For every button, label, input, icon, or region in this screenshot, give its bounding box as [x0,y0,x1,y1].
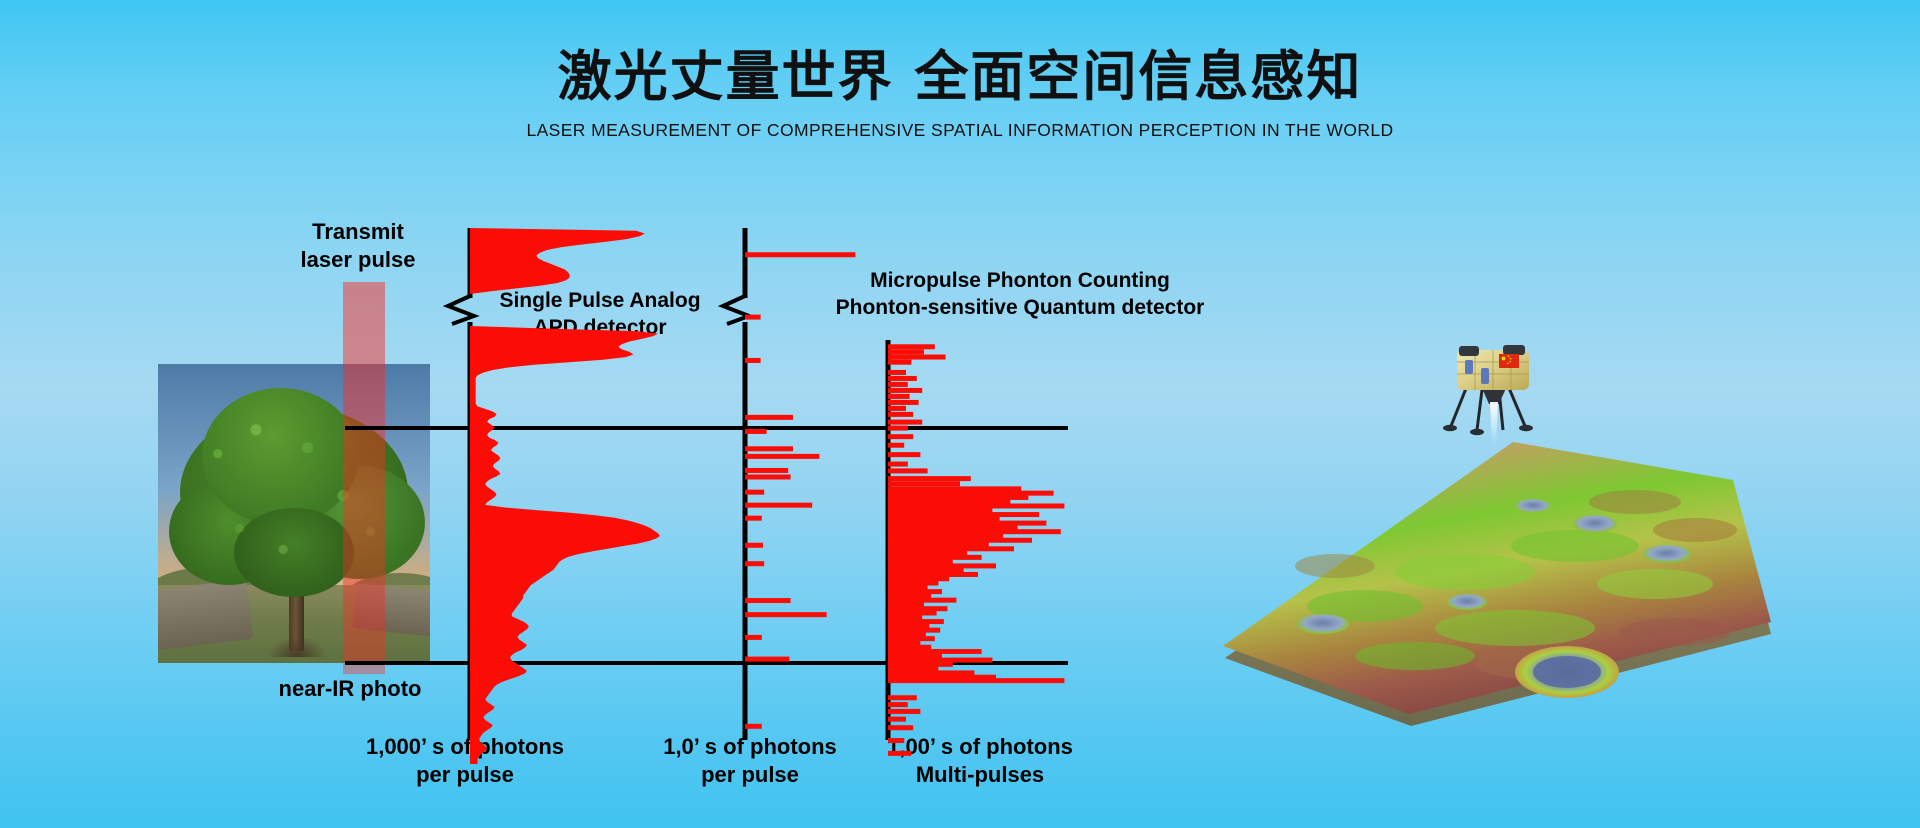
engine-plume [1490,402,1498,444]
photon-bar [745,490,764,495]
photon-bar [888,670,974,675]
photon-bar [888,508,992,513]
photon-bar [745,454,819,459]
photon-bar [888,640,920,645]
photon-bar [888,495,1028,500]
photon-bar [888,678,1064,683]
photon-bar [888,725,913,730]
photon-bar [745,657,789,662]
photon-bar [888,585,928,590]
photon-bar [745,358,761,363]
photon-bar [888,628,940,633]
photon-bar [888,491,1054,496]
photon-bar [888,636,935,641]
photon-bar [888,476,971,481]
photon-bar [888,376,917,381]
photon-bar [745,429,767,434]
photon-bar [888,468,928,473]
photon-bar [888,452,920,457]
terrain-crater-floor [1533,656,1601,688]
photon-bar [888,420,922,425]
photon-bar [888,529,1061,534]
micropulse-detector-label: Micropulse Phonton Counting Phonton-sens… [810,268,1230,322]
photon-bar [888,632,926,637]
lander-sensor [1465,360,1473,374]
photon-bar [888,394,910,399]
photon-bar [888,563,996,568]
photon-bar [745,415,793,420]
photon-bar [888,653,942,658]
photon-bar [745,468,788,473]
photon-bar [888,355,946,360]
page-title: 激光丈量世界 全面空间信息感知 [0,46,1920,108]
transmit-pulse-waveform [470,228,645,294]
photon-bar [888,516,1000,521]
photon-bar [888,370,906,375]
photon-bar [888,717,906,722]
terrain-crater [1447,594,1487,610]
photon-bar [888,581,938,586]
near-ir-photo-image [158,364,430,663]
photon-bar [888,695,917,700]
photon-bar [888,462,908,467]
photon-bar [888,658,992,663]
photon-bar [888,589,942,594]
terrain-crater [1643,545,1691,563]
photon-bar [888,542,989,547]
terrain-crater [1573,515,1617,533]
caption-mid-photons: 1,0’ s of photons per pulse [625,733,875,789]
photon-bar [888,546,1014,551]
photon-bar [745,516,762,521]
transmit-pulse-label: Transmit laser pulse [258,218,458,274]
photon-bar [745,503,812,508]
photon-count-bars [745,252,855,729]
photon-bar [888,434,913,439]
single-pulse-detector-label: Single Pulse Analog APD detector [455,288,745,342]
photon-bar [888,512,1039,517]
photon-bar [888,610,937,615]
caption-left-photons: 1,000’ s of photons per pulse [340,733,590,789]
photon-bar [888,521,1046,526]
photon-bar [888,606,947,611]
photon-count-bars [888,344,1064,756]
photon-bar [745,598,791,603]
photon-bar [888,662,953,667]
photon-bar [888,602,924,607]
photon-bar [888,486,1021,491]
photon-bar [888,675,996,680]
photon-bar [888,382,908,387]
photon-bar [888,623,929,628]
photon-bar [888,555,982,560]
analog-return-waveform [470,326,660,764]
laser-beam-overlay [343,282,385,674]
header: 激光丈量世界 全面空间信息感知 LASER MEASUREMENT OF COM… [0,46,1920,141]
photon-bar [888,649,982,654]
photon-bar [888,533,1003,538]
photon-bar [888,598,956,603]
photon-bar [888,572,978,577]
photon-bar [888,702,908,707]
photon-bar [888,551,967,556]
terrain-crater [1297,614,1349,634]
lander-foot [1443,425,1457,431]
photon-bar [888,400,919,405]
photon-bar [888,499,1010,504]
photon-bar [888,481,960,486]
photon-bar [888,349,924,354]
photon-bar [745,561,764,566]
photon-bar [888,503,1064,508]
photon-bar [888,709,920,714]
lander-foot [1519,425,1533,431]
photon-bar [888,576,949,581]
infographic-canvas: 激光丈量世界 全面空间信息感知 LASER MEASUREMENT OF COM… [0,0,1920,828]
photon-bar [888,615,922,620]
lander-instrument [1459,346,1479,356]
photon-bar [888,360,911,365]
photo-tree-base [267,636,327,657]
photon-bar [888,443,904,448]
photon-bar [888,406,906,411]
photon-bar [888,412,913,417]
page-subtitle: LASER MEASUREMENT OF COMPREHENSIVE SPATI… [0,120,1920,141]
photon-bar [745,724,762,729]
photon-bar [888,426,908,431]
terrain-crater [1515,499,1551,513]
photon-bar [888,593,931,598]
caption-right-photons: 1,00’ s of photons Multi-pulses [855,733,1105,789]
photon-bar [745,612,827,617]
photon-bar [888,525,1018,530]
near-ir-photo-label: near-IR photo [230,675,470,703]
lander-sensor [1481,368,1489,384]
photon-bar [888,344,935,349]
lander-foot [1470,429,1484,435]
photon-bar [745,315,761,320]
lander-instrument [1503,345,1525,355]
lunar-lander [1437,342,1547,446]
photon-bar [745,474,791,479]
photon-bar [888,538,1032,543]
photon-bar [888,568,964,573]
photon-bar [888,388,922,393]
photon-bar [888,666,938,671]
photo-foliage-texture [158,364,430,663]
photon-bar [888,619,944,624]
photon-bar [888,559,953,564]
photon-bar [745,635,762,640]
photon-bar [745,252,855,257]
photon-bar [745,446,793,451]
photon-bar [888,645,931,650]
photon-bar [745,543,763,548]
